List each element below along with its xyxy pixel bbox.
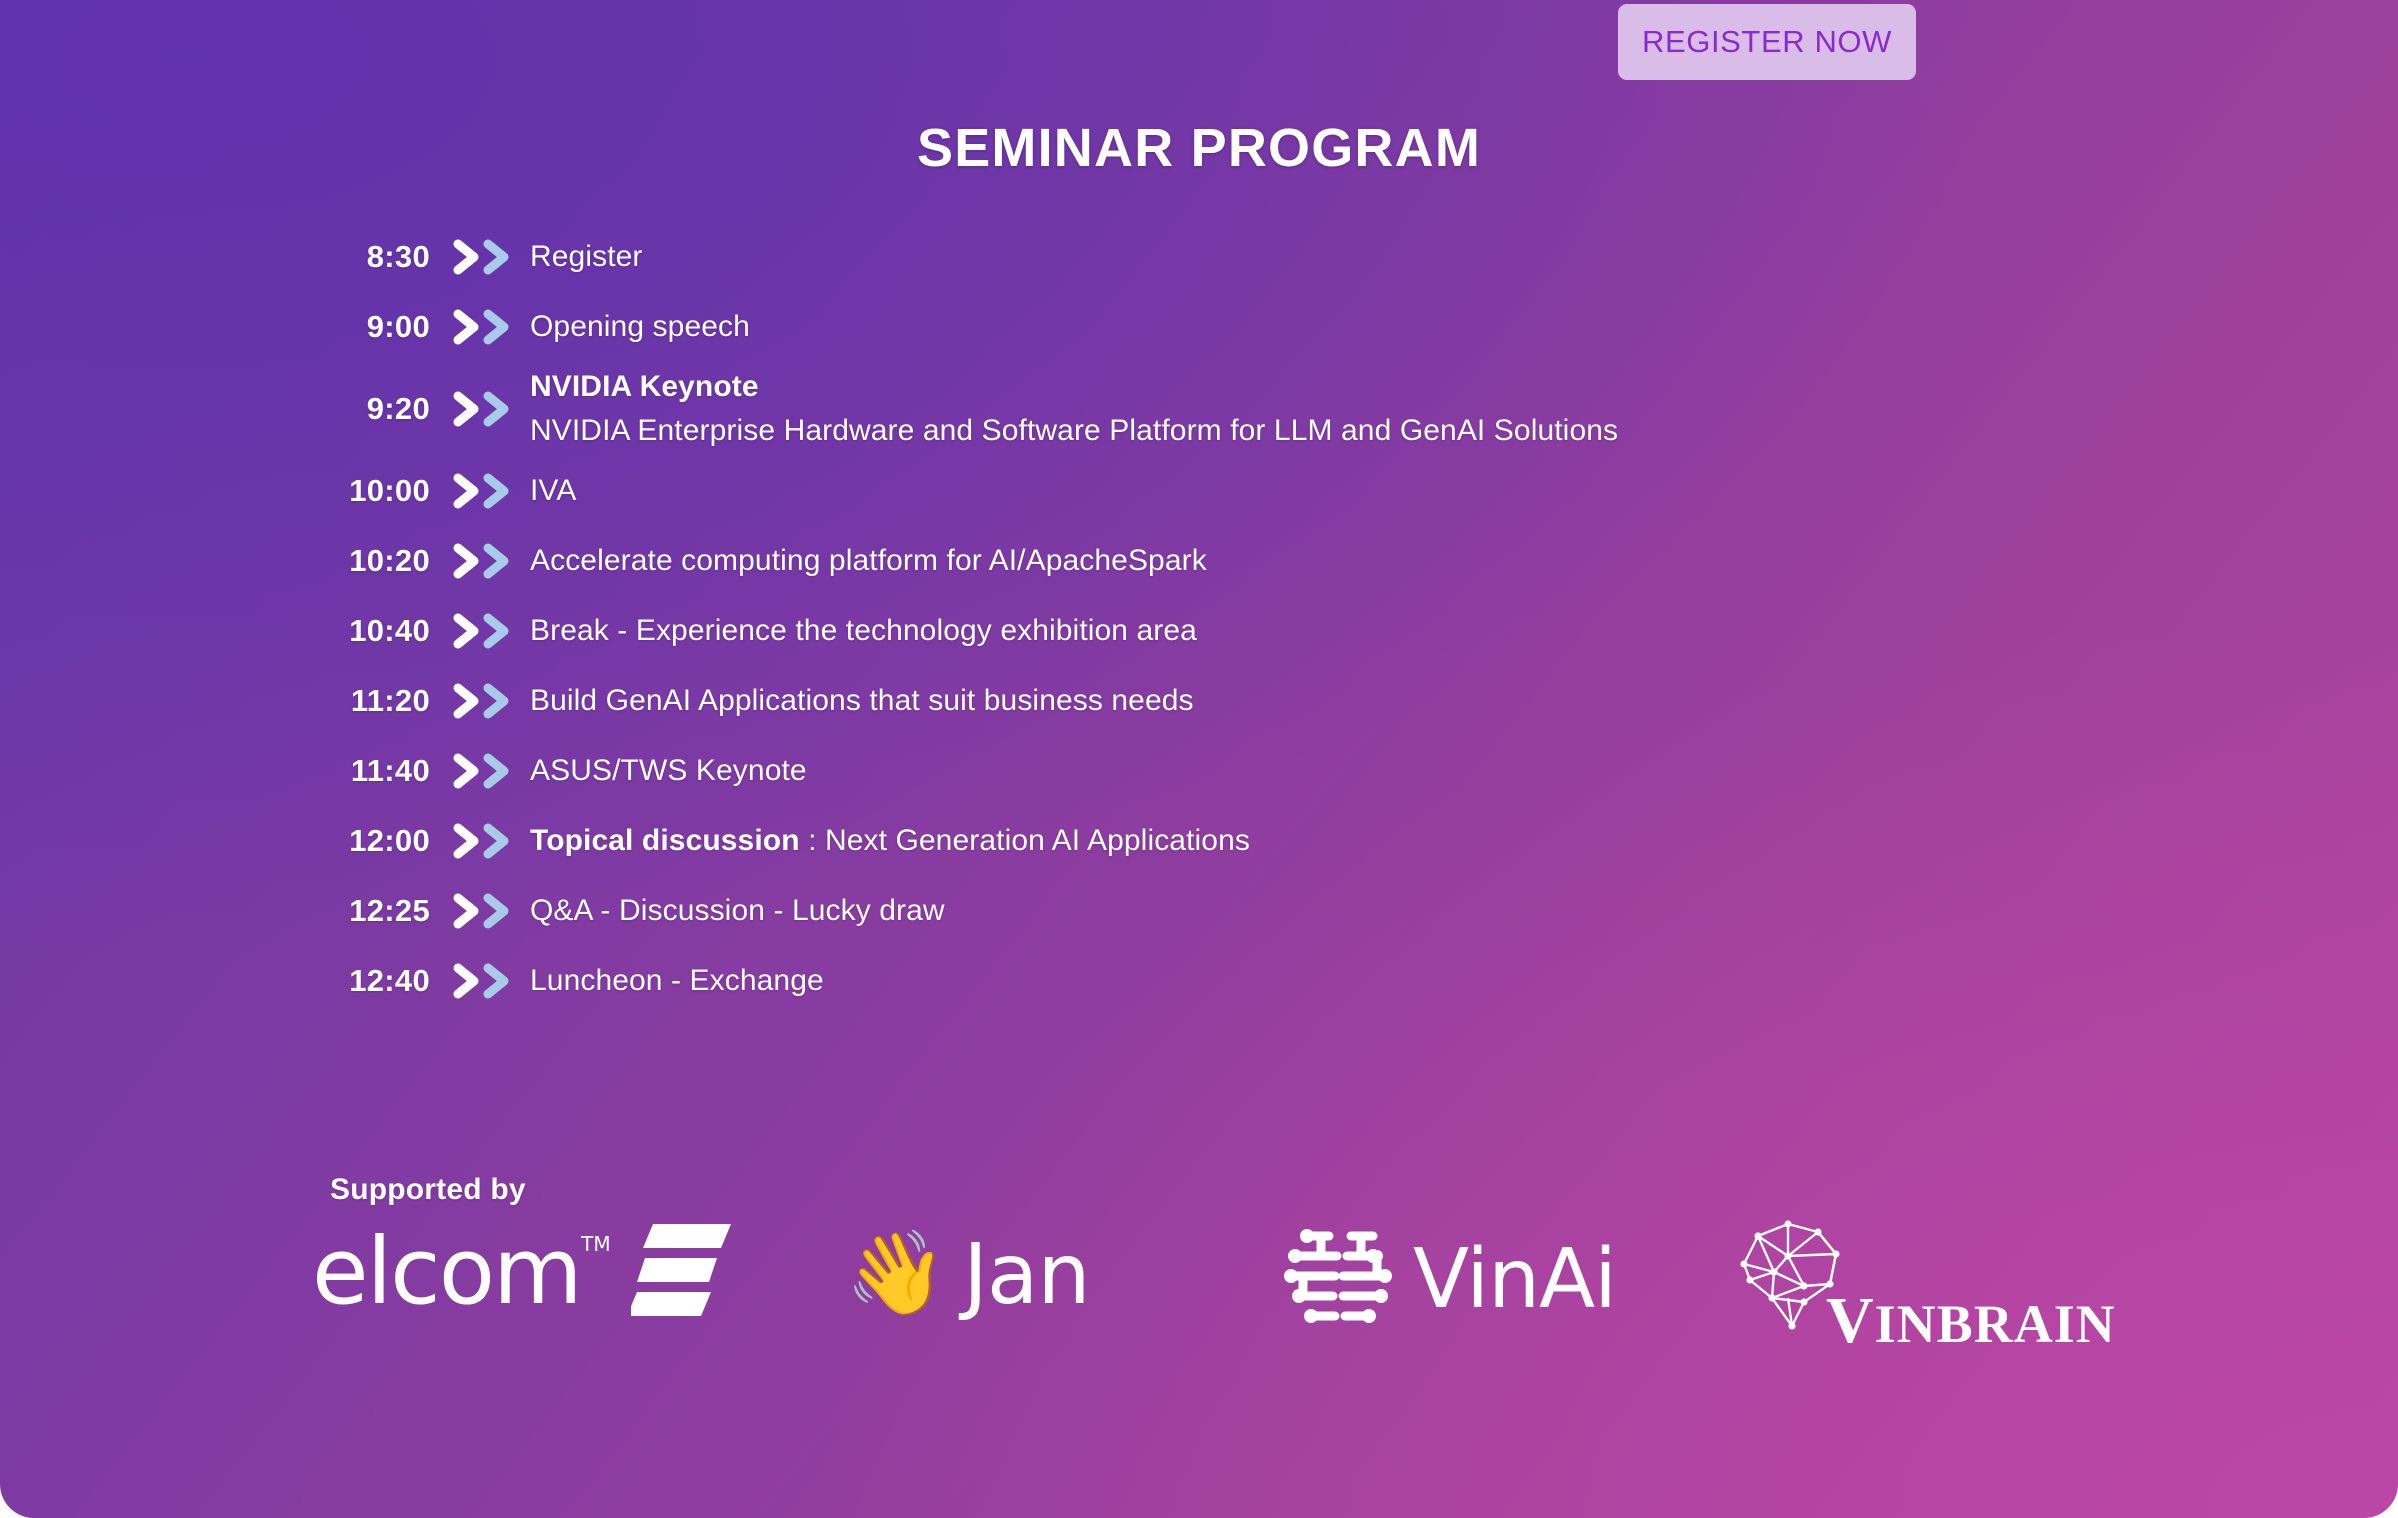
schedule-row-text: Build GenAI Applications that suit busin… [522,681,1194,721]
schedule-row-time: 10:20 [330,543,430,579]
elcom-wordmark-text: elcom [312,1218,581,1325]
schedule-row: 10:20 Accelerate computing platform for … [330,526,2130,596]
elcom-e-mark-icon [631,1222,731,1323]
waving-hand-icon: 👋 [845,1233,947,1315]
schedule-row-text: IVA [522,471,576,511]
schedule-row: 9:20 NVIDIA Keynote NVIDIA Enterprise Ha… [330,362,2130,456]
schedule-row-suffix: : Next Generation AI Applications [800,824,1250,857]
sponsor-logos: elcomTM 👋 Jan [312,1218,2112,1358]
logo-elcom: elcomTM [312,1212,731,1332]
schedule-row-text: Register [522,237,643,277]
vinai-wordmark: VinAi [1413,1239,1616,1321]
double-chevron-icon [450,470,516,512]
elcom-wordmark: elcomTM [312,1226,581,1318]
schedule-row: 12:25 Q&A - Discussion - Lucky draw [330,876,2130,946]
schedule-row-time: 9:20 [330,391,430,427]
double-chevron-icon [450,540,516,582]
schedule-row-text: Accelerate computing platform for AI/Apa… [522,541,1207,581]
register-now-button[interactable]: REGISTER NOW [1618,4,1916,80]
supported-by-label: Supported by [330,1173,526,1207]
schedule-row-time: 10:40 [330,613,430,649]
jan-wordmark: Jan [963,1232,1090,1316]
schedule-row-time: 11:40 [330,753,430,789]
schedule-row: 10:40 Break - Experience the technology … [330,596,2130,666]
logo-jan: 👋 Jan [845,1214,1090,1334]
schedule-row-text: Break - Experience the technology exhibi… [522,611,1197,651]
elcom-trademark-symbol: TM [581,1234,610,1254]
double-chevron-icon [450,820,516,862]
double-chevron-icon [450,960,516,1002]
schedule-row-heading: NVIDIA Keynote [530,367,1618,407]
schedule-row-text: Opening speech [522,307,750,347]
vinbrain-wordmark-rest: INBRAIN [1875,1294,2116,1354]
schedule-row-time: 10:00 [330,473,430,509]
schedule-row: 12:40 Luncheon - Exchange [330,946,2130,1016]
double-chevron-icon [450,610,516,652]
schedule-row-time: 12:40 [330,963,430,999]
double-chevron-icon [450,306,516,348]
schedule-row: 9:00 Opening speech [330,292,2130,362]
vinai-network-mark-icon [1277,1222,1395,1339]
double-chevron-icon [450,680,516,722]
double-chevron-icon [450,388,516,430]
schedule-row-time: 9:00 [330,309,430,345]
seminar-program-slide: REGISTER NOW SEMINAR PROGRAM 8:30 Regist… [0,0,2398,1518]
schedule-row-time: 8:30 [330,239,430,275]
schedule-list: 8:30 Register 9:00 [330,222,2130,1016]
schedule-row-time: 11:20 [330,683,430,719]
logo-vinai: VinAi [1277,1220,1616,1340]
vinbrain-wordmark-initial: V [1826,1284,1875,1357]
schedule-row: 11:20 Build GenAI Applications that suit… [330,666,2130,736]
logo-vinbrain: VINBRAIN [1730,1210,1870,1330]
schedule-row-text: NVIDIA Keynote NVIDIA Enterprise Hardwar… [522,367,1618,451]
schedule-row: 10:00 IVA [330,456,2130,526]
schedule-row-text: Topical discussion : Next Generation AI … [522,821,1250,861]
schedule-row-text: Q&A - Discussion - Lucky draw [522,891,945,931]
double-chevron-icon [450,890,516,932]
schedule-row-text: ASUS/TWS Keynote [522,751,807,791]
schedule-row: 12:00 Topical discussion : Next Generati… [330,806,2130,876]
schedule-row: 8:30 Register [330,222,2130,292]
schedule-row-time: 12:25 [330,893,430,929]
schedule-row-time: 12:00 [330,823,430,859]
double-chevron-icon [450,750,516,792]
vinbrain-wordmark: VINBRAIN [1826,1288,2116,1354]
page-title: SEMINAR PROGRAM [0,117,2398,179]
double-chevron-icon [450,236,516,278]
schedule-row-bold-prefix: Topical discussion [530,824,800,857]
schedule-row-text: Luncheon - Exchange [522,961,824,1001]
schedule-row-subtext: NVIDIA Enterprise Hardware and Software … [530,411,1618,451]
schedule-row: 11:40 ASUS/TWS Keynote [330,736,2130,806]
